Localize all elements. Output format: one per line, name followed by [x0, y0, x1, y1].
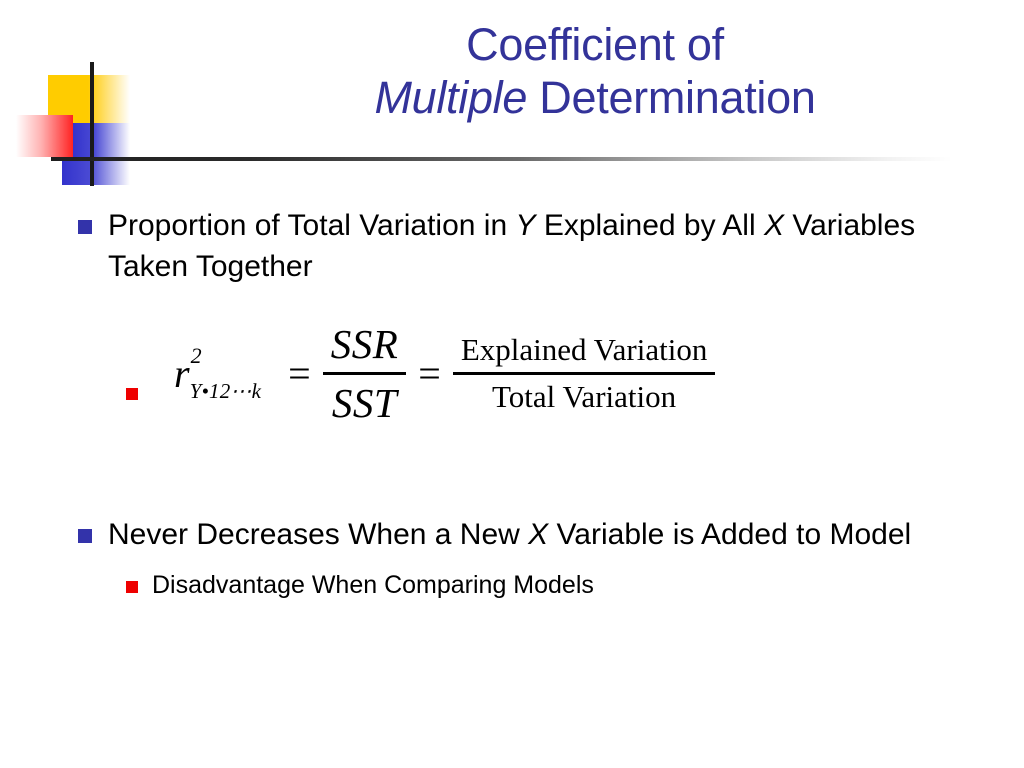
fraction-2-bar [453, 372, 716, 375]
list-item: Proportion of Total Variation in Y Expla… [0, 205, 1024, 287]
equation-lhs-superscript: 2 [191, 343, 202, 368]
bullet-marker-blue [78, 220, 92, 234]
equation-fraction-ssr-sst: SSR SST [323, 319, 407, 428]
bullet-1-seg-3: X [764, 209, 784, 242]
equation-operator-2: = [406, 350, 453, 397]
fraction-1-numerator: SSR [323, 319, 407, 369]
bullet-text-2: Never Decreases When a New X Variable is… [108, 514, 911, 555]
logo-yellow-fade [88, 75, 130, 123]
logo-vertical-line [90, 62, 94, 186]
bullet-marker-red-equation [126, 388, 138, 400]
logo-blue-square-lower [62, 161, 130, 185]
list-item: Never Decreases When a New X Variable is… [0, 514, 1024, 555]
equation-operator-1: = [276, 350, 323, 397]
slide-title-line-2-rest: Determination [527, 72, 815, 123]
equation-lhs-base: r [174, 351, 190, 396]
spacer [0, 428, 1024, 514]
bullet-1-seg-1: Y [515, 209, 535, 242]
spacer [0, 555, 1024, 569]
slide-title-emphasis: Multiple [374, 72, 527, 123]
fraction-1-denominator: SST [324, 378, 405, 428]
fraction-2-denominator: Total Variation [484, 378, 684, 416]
equation-fraction-explained-total: Explained Variation Total Variation [453, 331, 716, 416]
equation-row: r2Y•12⋯k = SSR SST = Explained Variation… [0, 319, 1024, 428]
sub-bullet-text: Disadvantage When Comparing Models [152, 569, 594, 602]
slide-title-line-2: Multiple Determination [200, 71, 990, 124]
bullet-marker-blue [78, 529, 92, 543]
bullet-1-seg-0: Proportion of Total Variation in [108, 209, 515, 242]
bullet-2-seg-1: X [528, 518, 548, 551]
bullet-marker-red [126, 581, 138, 593]
bullet-2-seg-2: Variable is Added to Model [548, 518, 911, 551]
slide-title-line-1: Coefficient of [200, 18, 990, 71]
bullet-2-seg-0: Never Decreases When a New [108, 518, 528, 551]
fraction-2-numerator: Explained Variation [453, 331, 716, 369]
fraction-1-bar [323, 372, 407, 375]
list-item-sub: Disadvantage When Comparing Models [0, 569, 1024, 602]
logo-yellow-square [48, 75, 88, 123]
logo-red-square [16, 115, 73, 157]
equation-lhs: r2Y•12⋯k [174, 350, 276, 397]
decorative-squares-logo [0, 0, 190, 200]
title-divider-rule [52, 157, 952, 161]
equation-lhs-subscript: Y•12⋯k [190, 379, 262, 403]
slide-body: Proportion of Total Variation in Y Expla… [0, 205, 1024, 602]
bullet-text-1: Proportion of Total Variation in Y Expla… [108, 205, 978, 287]
bullet-1-seg-2: Explained by All [535, 209, 763, 242]
slide-title: Coefficient of Multiple Determination [200, 18, 990, 124]
equation-coefficient-of-multiple-determination: r2Y•12⋯k = SSR SST = Explained Variation… [174, 319, 715, 428]
